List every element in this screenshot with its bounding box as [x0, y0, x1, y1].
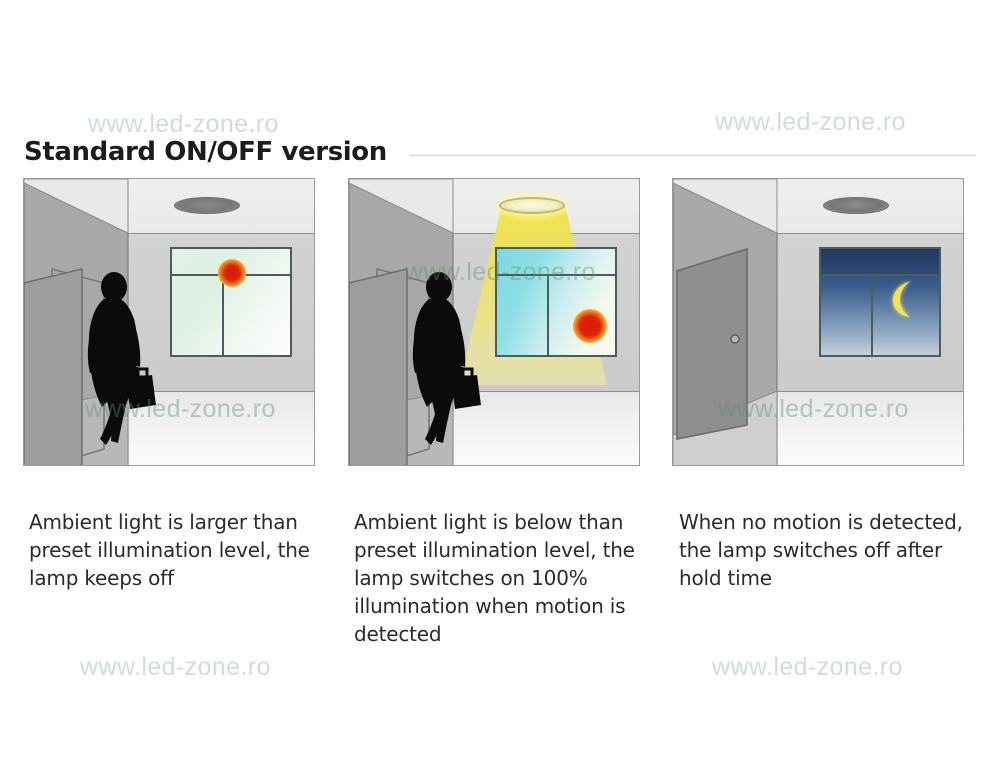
red-sensor-dot-icon: [218, 259, 246, 287]
watermark-text: www.led-zone.ro: [712, 653, 903, 682]
page-title: Standard ON/OFF version: [24, 137, 387, 167]
scene-room-lamp-on-100-percent: [349, 179, 639, 465]
scene-room-night-lamp-off: [673, 179, 963, 465]
window-night-top-band: [821, 249, 939, 274]
crescent-moon-icon: [889, 279, 923, 319]
ceiling-lamp-lit-icon: [499, 197, 565, 214]
title-row: Standard ON/OFF version: [24, 132, 976, 172]
window-transom-bar: [497, 274, 615, 276]
window-mullion-bar: [871, 274, 873, 355]
caption-ambient-light-above-preset: Ambient light is larger than preset illu…: [29, 508, 319, 592]
red-sensor-dot-icon: [573, 309, 607, 343]
closed-door-icon: [673, 179, 823, 466]
window-daylight-icon: [170, 247, 292, 357]
caption-ambient-light-below-preset: Ambient light is below than preset illum…: [354, 508, 654, 648]
window-night-icon: [819, 247, 941, 357]
person-walking-silhouette-icon: [403, 271, 495, 457]
window-mullion-bar: [222, 274, 224, 355]
illustration-panels: [0, 178, 1000, 468]
window-mullion-bar: [547, 274, 549, 355]
watermark-text: www.led-zone.ro: [80, 653, 271, 682]
window-dim-daylight-icon: [495, 247, 617, 357]
panel-ambient-light-below-preset: [348, 178, 640, 466]
panel-no-motion-detected: [672, 178, 964, 466]
ceiling-lamp-icon: [823, 197, 889, 214]
title-divider-rule: [409, 154, 976, 157]
window-transom-bar: [821, 274, 939, 276]
scene-room-daylight-lamp-off: [24, 179, 314, 465]
panel-ambient-light-above-preset: [23, 178, 315, 466]
caption-no-motion-detected: When no motion is detected, the lamp swi…: [679, 508, 969, 592]
ceiling-lamp-icon: [174, 197, 240, 214]
person-walking-silhouette-icon: [78, 271, 170, 457]
